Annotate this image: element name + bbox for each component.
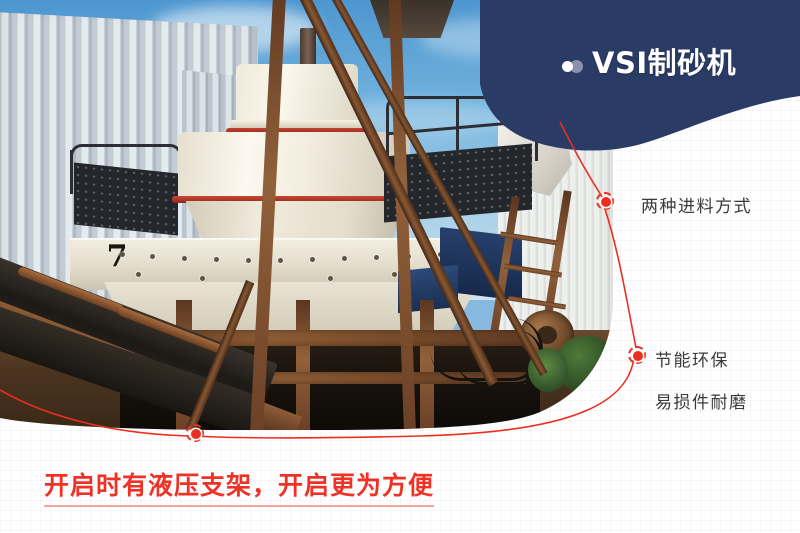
marker-dot-icon xyxy=(191,429,201,439)
support-beam xyxy=(296,300,310,430)
railing-post xyxy=(456,98,459,156)
support-beam xyxy=(420,300,434,430)
banner-title: VSI制砂机 xyxy=(592,40,736,82)
marker-dot-icon xyxy=(633,351,643,361)
top-hopper xyxy=(370,0,454,38)
annotation-feed-modes: 两种进料方式 xyxy=(641,192,752,217)
left-railing-post xyxy=(70,150,73,194)
annotation-wear-parts: 易损件耐磨 xyxy=(655,388,748,413)
marker-energy-saving[interactable] xyxy=(628,346,650,368)
promo-image-canvas: 7 xyxy=(0,0,800,533)
marker-hydraulic-support[interactable] xyxy=(186,424,208,446)
marker-feed-modes[interactable] xyxy=(596,192,618,214)
bottom-caption: 开启时有液压支架，开启更为方便 xyxy=(44,466,434,507)
double-circle-bullet-icon xyxy=(562,60,588,73)
left-railing xyxy=(70,144,182,181)
annotation-energy-saving: 节能环保 xyxy=(655,346,729,371)
machine-number-plate: 7 xyxy=(96,240,138,274)
marker-dot-icon xyxy=(601,197,611,207)
